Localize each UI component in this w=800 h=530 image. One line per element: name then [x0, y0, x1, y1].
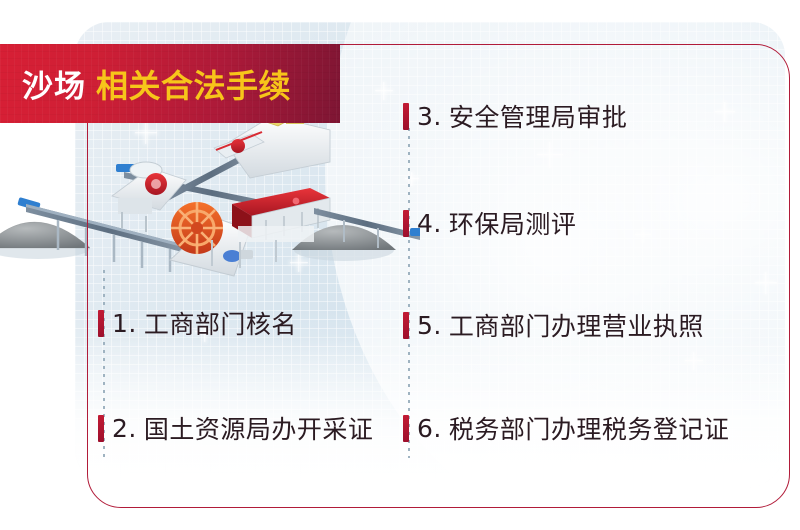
list-item-label: 工商部门办理营业执照	[449, 307, 704, 343]
marker-bar-icon	[403, 210, 409, 237]
list-item-number: 4.	[417, 209, 442, 238]
list-item-label: 安全管理局审批	[449, 98, 628, 134]
title-banner: 沙场相关合法手续	[0, 44, 340, 123]
marker-bar-icon	[98, 310, 104, 337]
list-item-label: 税务部门办理税务登记证	[449, 410, 730, 446]
marker-bar-icon	[98, 415, 104, 442]
marker-bar-icon	[403, 312, 409, 339]
list-item-number: 6.	[417, 414, 442, 443]
sand-gravel-production-line-illustration	[0, 100, 420, 300]
list-item-label: 环保局测评	[449, 205, 577, 241]
dotted-divider-right	[408, 128, 410, 458]
marker-bar-icon	[403, 415, 409, 442]
list-item-number: 2.	[112, 414, 137, 443]
marker-bar-icon	[403, 103, 409, 130]
list-item[interactable]: 3. 安全管理局审批	[403, 98, 627, 134]
list-item[interactable]: 4. 环保局测评	[403, 205, 576, 241]
list-item[interactable]: 2. 国土资源局办开采证	[98, 410, 373, 446]
list-item[interactable]: 1. 工商部门核名	[98, 305, 297, 341]
title-secondary: 相关合法手续	[96, 67, 291, 105]
page-title: 沙场相关合法手续	[0, 61, 291, 107]
list-item-label: 国土资源局办开采证	[144, 410, 374, 446]
list-item-number: 1.	[112, 309, 137, 338]
list-item-number: 5.	[417, 311, 442, 340]
list-item[interactable]: 6. 税务部门办理税务登记证	[403, 410, 729, 446]
list-item-number: 3.	[417, 102, 442, 131]
list-item-label: 工商部门核名	[144, 305, 297, 341]
list-item[interactable]: 5. 工商部门办理营业执照	[403, 307, 704, 343]
gravel-pile-left	[0, 222, 90, 259]
title-primary: 沙场	[22, 69, 86, 105]
